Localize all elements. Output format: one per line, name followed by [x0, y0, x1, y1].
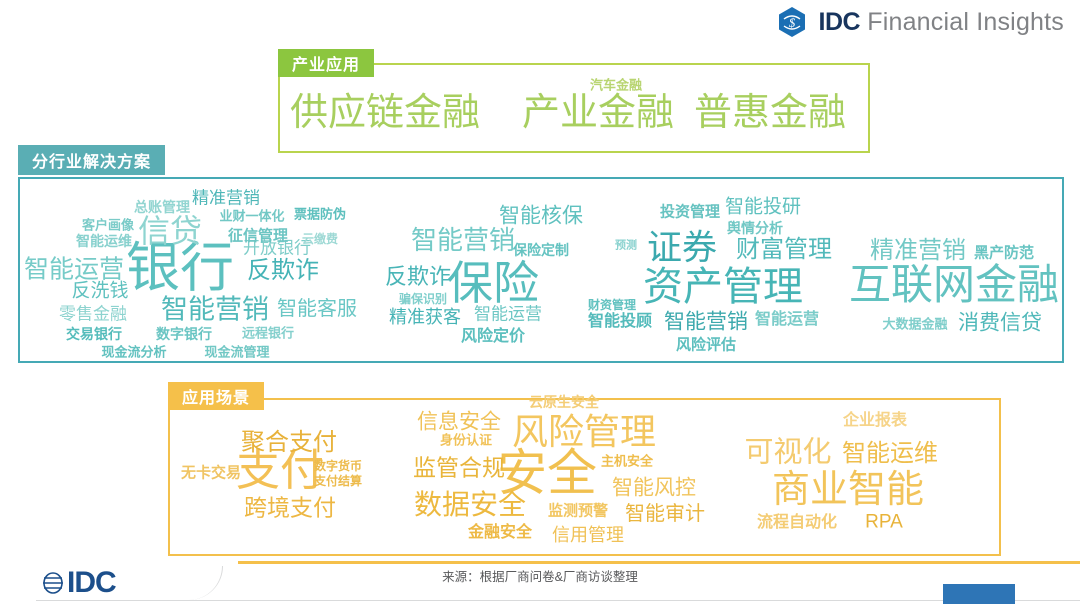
word-cloud-term: 骗保识别 — [399, 293, 447, 305]
word-cloud-term: 风险定价 — [461, 329, 525, 345]
word-cloud-term: 保险 — [447, 260, 539, 306]
word-cloud-term: 主机安全 — [601, 455, 653, 468]
word-cloud-term: 智能审计 — [625, 504, 705, 524]
word-cloud-term: 智能营销 — [664, 312, 748, 333]
word-cloud-term: 业财一体化 — [219, 210, 284, 223]
word-cloud-term: 监管合规 — [413, 457, 505, 480]
word-cloud-term: 跨境支付 — [244, 497, 336, 520]
word-cloud-term: 互联网金融 — [849, 264, 1059, 306]
word-cloud-term: 资产管理 — [643, 267, 803, 307]
word-cloud-term: 信息安全 — [417, 412, 501, 433]
word-cloud-term: 数字货币 — [314, 460, 362, 472]
word-cloud-term: 流程自动化 — [757, 515, 837, 531]
word-cloud-term: 智能核保 — [499, 206, 583, 227]
word-cloud-term: 企业报表 — [843, 413, 907, 429]
footer-accent-rule — [238, 561, 1080, 564]
word-cloud-term: 客户画像 — [82, 219, 134, 232]
word-cloud: 供应链金融产业金融普惠金融汽车金融银行智能营销智能运营信贷反欺诈智能客服开放银行… — [0, 0, 1080, 608]
word-cloud-term: 零售金融 — [59, 306, 127, 323]
word-cloud-term: 聚合支付 — [241, 431, 337, 455]
word-cloud-term: 证券 — [647, 231, 717, 266]
word-cloud-term: 征信管理 — [228, 229, 288, 244]
word-cloud-term: 精准营销 — [192, 190, 260, 207]
word-cloud-term: 汽车金融 — [590, 79, 642, 92]
word-cloud-term: 反欺诈 — [247, 259, 319, 283]
word-cloud-term: 总账管理 — [134, 200, 190, 214]
word-cloud-term: 普惠金融 — [694, 94, 846, 132]
word-cloud-term: 黑产防范 — [974, 246, 1034, 261]
word-cloud-term: 数据安全 — [414, 491, 526, 519]
word-cloud-term: 预测 — [615, 241, 637, 252]
footer-accent-chip — [943, 584, 1015, 604]
word-cloud-term: 反洗钱 — [71, 282, 128, 301]
word-cloud-term: 精准营销 — [870, 239, 966, 263]
word-cloud-term: 监测预警 — [548, 504, 608, 519]
word-cloud-term: 身份认证 — [440, 434, 492, 447]
word-cloud-term: 云原生安全 — [529, 395, 599, 409]
word-cloud-term: 智能投研 — [725, 198, 801, 217]
panel-tab-vertical-solutions: 分行业解决方案 — [18, 145, 165, 175]
word-cloud-term: 金融安全 — [468, 525, 532, 541]
word-cloud-term: 智能运营 — [755, 312, 819, 328]
word-cloud-term: 现金流分析 — [101, 346, 166, 359]
word-cloud-term: 智能客服 — [277, 299, 357, 319]
word-cloud-term: 智能运营 — [474, 306, 542, 323]
source-note: 来源：根据厂商问卷&厂商访谈整理 — [0, 566, 1080, 585]
word-cloud-term: 交易银行 — [66, 327, 122, 341]
word-cloud-term: 商业智能 — [772, 471, 924, 509]
word-cloud-term: 现金流管理 — [204, 346, 269, 359]
word-cloud-term: 舆情分析 — [727, 221, 783, 235]
word-cloud-term: 智能营销 — [411, 227, 515, 253]
word-cloud-term: 财资管理 — [588, 299, 636, 311]
slide-canvas: $ IDC Financial Insights 产业应用 分行业解决方案 应用… — [0, 0, 1080, 608]
word-cloud-term: 精准获客 — [389, 308, 461, 326]
word-cloud-term: 智能运维 — [76, 234, 132, 248]
word-cloud-term: 智能运维 — [842, 442, 938, 466]
word-cloud-term: 大数据金融 — [882, 318, 947, 331]
word-cloud-term: 供应链金融 — [290, 94, 480, 132]
word-cloud-term: 风险管理 — [512, 414, 656, 450]
word-cloud-term: 信贷 — [138, 215, 202, 247]
word-cloud-term: 票据防伪 — [294, 208, 346, 221]
word-cloud-term: 风险评估 — [676, 338, 736, 353]
word-cloud-term: 信用管理 — [552, 526, 624, 544]
word-cloud-term: 财富管理 — [736, 238, 832, 262]
word-cloud-term: 保险定制 — [513, 243, 569, 257]
panel-tab-industry-application: 产业应用 — [278, 49, 374, 77]
word-cloud-term: 数字银行 — [156, 327, 212, 341]
word-cloud-term: 智能风控 — [612, 478, 696, 499]
word-cloud-term: 智能投顾 — [588, 314, 652, 330]
word-cloud-term: 银行 — [126, 241, 234, 295]
word-cloud-term: 支付结算 — [314, 475, 362, 487]
word-cloud-term: 智能营销 — [161, 297, 269, 324]
panel-tab-application-scenario: 应用场景 — [168, 382, 264, 410]
word-cloud-term: 消费信贷 — [958, 313, 1042, 334]
word-cloud-term: 云缴费 — [302, 233, 338, 245]
word-cloud-term: 无卡交易 — [181, 466, 241, 481]
word-cloud-term: 远程银行 — [242, 327, 294, 340]
word-cloud-term: 产业金融 — [522, 94, 674, 132]
word-cloud-term: RPA — [865, 513, 903, 532]
word-cloud-term: 投资管理 — [660, 205, 720, 220]
word-cloud-term: 智能运营 — [24, 258, 124, 283]
word-cloud-term: 可视化 — [744, 439, 831, 468]
word-cloud-term: 反欺诈 — [385, 266, 451, 288]
